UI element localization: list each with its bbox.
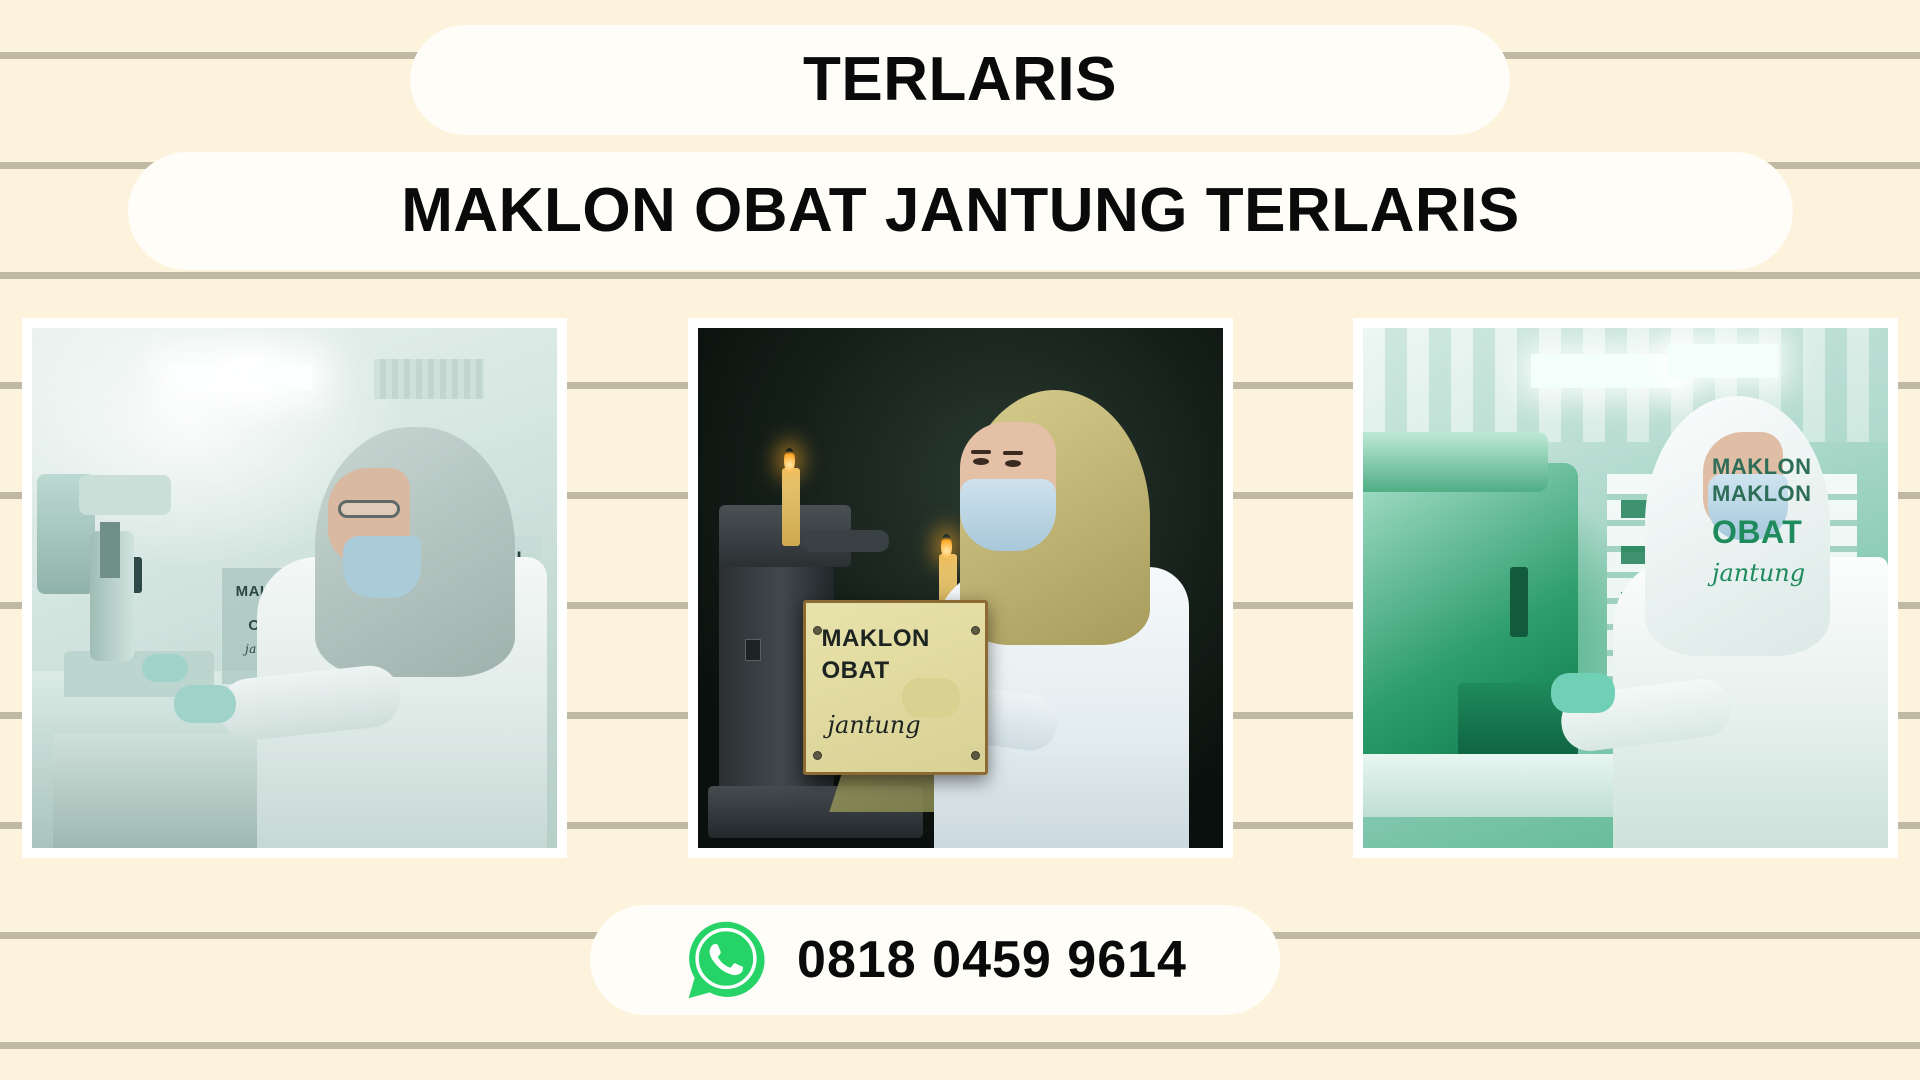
studio-board-photo: MAKLON OBAT jantung [698,328,1223,848]
photo-gallery: MAKLAN OBAT AT MAKLON OBAT jantung [0,318,1920,858]
badge-label: TERLARIS [803,49,1117,111]
overlay-line-4: jantung [1712,552,1867,588]
glove [902,678,960,718]
glasses-icon [338,500,400,518]
eye [973,458,989,465]
badge-pill: TERLARIS [410,25,1510,135]
machine-nozzle [1510,567,1528,637]
face-mask [343,536,421,598]
headline-pill: MAKLON OBAT JANTUNG TERLARIS [128,152,1793,270]
candle [782,468,800,546]
signboard: MAKLON OBAT jantung [803,600,988,775]
eyebrow [971,450,991,454]
stripe-line [0,272,1920,279]
drawer [1621,500,1647,518]
microscope-head [79,475,171,515]
overlay-line-1: MAKLON [1712,453,1867,481]
screw-icon [813,751,822,760]
signboard-line-1: MAKLON [806,603,985,653]
contact-pill[interactable]: 0818 0459 9614 [590,905,1280,1015]
screw-icon [971,751,980,760]
eye [1005,460,1021,467]
screw-icon [813,626,822,635]
glove [174,685,236,723]
page-title: MAKLON OBAT JANTUNG TERLARIS [401,180,1519,242]
photo-frame-3: MAKLON MAKLON OBAT jantung [1353,318,1898,858]
machine-button [745,639,761,661]
face-mask [960,479,1056,551]
overlay-line-3: OBAT [1712,508,1867,552]
promotional-banner: TERLARIS MAKLON OBAT JANTUNG TERLARIS M [0,0,1920,1080]
ceiling-lamp-icon [1668,344,1778,378]
photo-overlay-text: MAKLON MAKLON OBAT jantung [1712,453,1867,588]
signboard-line-2: OBAT [806,653,985,685]
production-machine-head [1363,432,1548,492]
green-lab-photo: MAKLON MAKLON OBAT jantung [1363,328,1888,848]
drawer [1621,546,1647,564]
screw-icon [971,626,980,635]
lab-microscope-photo: MAKLAN OBAT AT MAKLON OBAT jantung [32,328,557,848]
eyebrow [1003,451,1023,455]
microscope-tube [100,522,120,578]
machine-arm [803,530,889,552]
ceiling-vent [374,359,484,399]
photo-frame-2: MAKLON OBAT jantung [688,318,1233,858]
flame-icon [784,448,795,472]
phone-number[interactable]: 0818 0459 9614 [797,930,1187,990]
glove [1551,673,1615,713]
ceiling-lamp-icon [242,364,312,390]
overlay-line-2: MAKLON [1712,480,1867,508]
ceiling-lamp-icon [1531,354,1681,388]
glove [142,654,188,682]
stripe-line [0,1042,1920,1049]
flame-icon [941,534,952,558]
whatsapp-icon[interactable] [683,917,769,1003]
photo-frame-1: MAKLAN OBAT AT MAKLON OBAT jantung [22,318,567,858]
